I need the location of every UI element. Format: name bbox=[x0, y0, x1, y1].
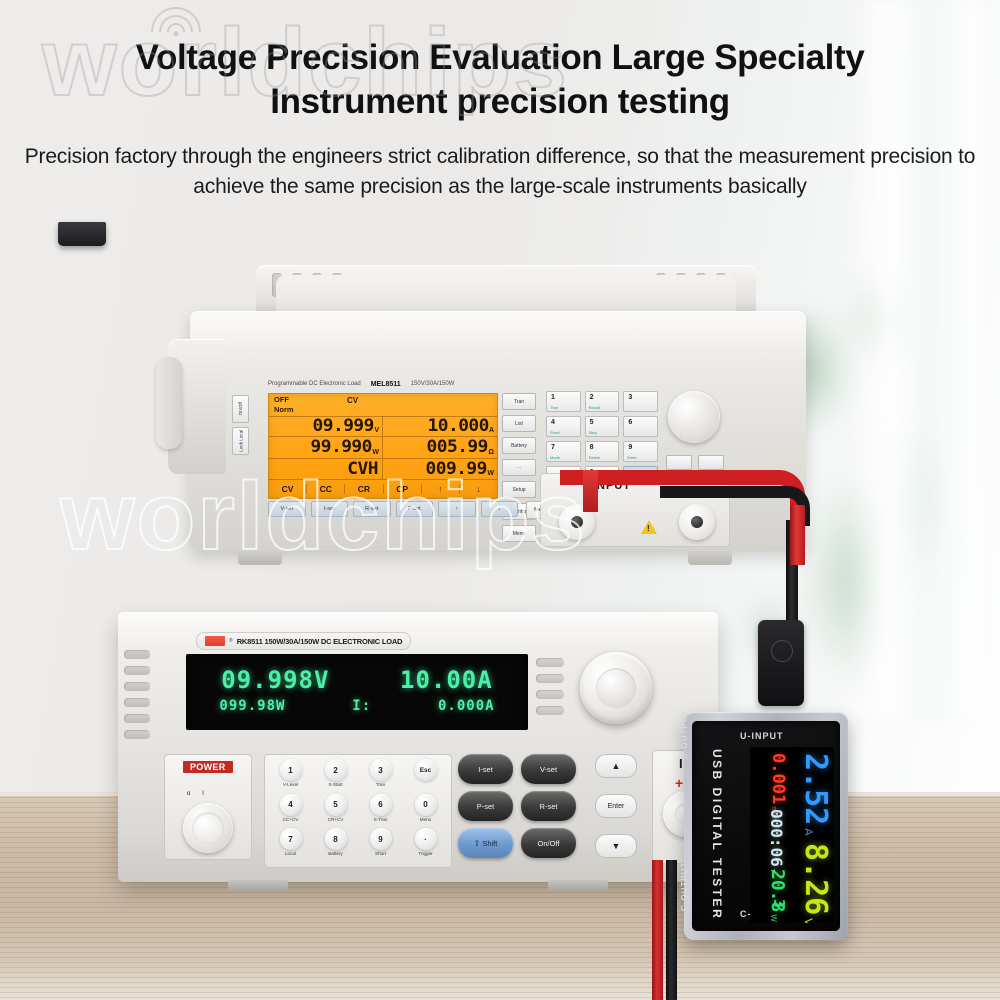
power-symbols: o l bbox=[187, 779, 231, 797]
red-lead-terminal-end bbox=[583, 470, 598, 512]
soft-key-4[interactable] bbox=[536, 706, 564, 715]
soft-key-2[interactable] bbox=[536, 674, 564, 683]
usb-tester-channel-value: 3 bbox=[771, 899, 786, 908]
top-down-button[interactable]: ↓ bbox=[481, 501, 519, 517]
soft-key-3[interactable] bbox=[536, 690, 564, 699]
top-vset-button[interactable]: V-set bbox=[268, 501, 306, 517]
power-on-symbol: l bbox=[202, 791, 203, 797]
lcd-status-row: OFF Norm CV bbox=[269, 394, 497, 417]
top-instrument-lcd: OFF Norm CV 09.999 V 10.000 A 99.990 W bbox=[268, 393, 498, 499]
top-rotary-knob[interactable] bbox=[668, 391, 720, 443]
registered-mark: ® bbox=[229, 638, 233, 644]
usb-a-connector bbox=[758, 620, 804, 706]
bottom-instrument-vents bbox=[124, 650, 150, 740]
usb-micro-connector bbox=[58, 222, 106, 246]
lcd-seg-cp: CP bbox=[384, 484, 422, 494]
bottom-instrument-foot-left bbox=[228, 880, 288, 890]
bottom-iset-button[interactable]: I-set bbox=[458, 754, 513, 784]
bottom-shift-button[interactable]: Shift bbox=[458, 828, 513, 858]
usb-tester-power-group: 20.8 W bbox=[768, 869, 786, 922]
top-utility-button-right[interactable] bbox=[698, 455, 724, 470]
usb-tester-capacity-value: 0.001 bbox=[769, 753, 786, 804]
bottom-rotary-knob[interactable] bbox=[580, 652, 652, 724]
lcd-cell-resistance: 005.99 Ω bbox=[383, 437, 497, 458]
lcd-cell-setpower: 009.99 W bbox=[383, 459, 497, 480]
lcd-cv-label: CV bbox=[347, 396, 358, 405]
lcd-seg-up: ↑ bbox=[422, 484, 460, 494]
bottom-numeric-keypad: 1V-Level 2S-Start 3Tran Esc 4CC+CV 5CR+C… bbox=[264, 754, 452, 868]
vfd-power: 099.98W bbox=[219, 698, 285, 714]
bottom-key-3[interactable]: 3Tran bbox=[358, 759, 403, 794]
warning-triangle-icon bbox=[641, 520, 657, 534]
lcd-unit-power: W bbox=[372, 449, 379, 456]
usb-tester-port-c-output: C-OUTPUT bbox=[680, 862, 689, 911]
bottom-key-4[interactable]: 4CC+CV bbox=[268, 794, 313, 829]
lcd-cell-power: 99.990 W bbox=[269, 437, 383, 458]
power-section: POWER o l bbox=[164, 754, 252, 860]
top-fn-tran[interactable]: Tran bbox=[502, 393, 536, 410]
red-lead-to-floor bbox=[652, 860, 663, 1000]
lcd-mode-off: OFF bbox=[274, 395, 294, 405]
usb-digital-tester: U-INPUT C-INPUT U-OUTPUT C-OUTPUT USB DI… bbox=[684, 712, 848, 940]
top-lock-local-button[interactable]: Lock Local bbox=[232, 427, 249, 455]
vfd-voltage: 09.998V bbox=[221, 666, 329, 694]
top-instrument-nameplate: Programmable DC Electronic Load MEL8511 … bbox=[268, 377, 530, 391]
arrow-up-button[interactable]: ▲ bbox=[595, 754, 637, 778]
lcd-unit-resistance: Ω bbox=[488, 449, 494, 456]
lcd-value-resistance: 005.99 bbox=[426, 437, 487, 457]
top-utility-button-left[interactable] bbox=[666, 455, 692, 470]
usb-tester-voltage-group: 8.26 V bbox=[800, 843, 830, 923]
top-iset-button[interactable]: I-set bbox=[311, 501, 349, 517]
bottom-pset-button[interactable]: P-set bbox=[458, 791, 513, 821]
top-pset-button[interactable]: P-set bbox=[396, 501, 434, 517]
enter-button[interactable]: Enter bbox=[595, 794, 637, 818]
top-set-button-row: V-set I-set R-set P-set ↑ ↓ bbox=[268, 501, 518, 517]
top-utility-buttons bbox=[666, 455, 726, 470]
usb-tester-voltage-value: 8.26 bbox=[800, 843, 830, 915]
bottom-rset-button[interactable]: R-set bbox=[521, 791, 576, 821]
top-key-1[interactable]: 1Tran bbox=[546, 391, 581, 412]
bottom-instrument-foot-right bbox=[548, 880, 608, 890]
top-fn-battery[interactable]: Battery bbox=[502, 437, 536, 454]
top-key-9[interactable]: 9Enter bbox=[623, 441, 658, 462]
top-fn-more[interactable]: ⋯ bbox=[502, 459, 536, 476]
top-instrument-rating: 150V/30A/150W bbox=[411, 381, 455, 387]
top-key-3[interactable]: 3 bbox=[623, 391, 658, 412]
lcd-unit-current: A bbox=[489, 427, 494, 434]
top-key-5[interactable]: 5Step bbox=[585, 416, 620, 437]
lcd-mode-indicator: OFF Norm bbox=[274, 395, 294, 414]
top-fn-list[interactable]: List bbox=[502, 415, 536, 432]
usb-tester-channel-group: 3 bbox=[771, 899, 786, 908]
usb-tester-screen-rotated: 2.52 A 8.26 V 0.001 mAh 000:06 ᴛ bbox=[750, 747, 834, 923]
top-onoff-button[interactable]: On/Off bbox=[232, 395, 249, 423]
vfd-current-set-label: I: bbox=[352, 698, 371, 714]
lcd-cell-voltage: 09.999 V bbox=[269, 416, 383, 437]
bottom-arrow-keys: ▲ Enter ▼ bbox=[590, 754, 642, 858]
bottom-soft-keys bbox=[536, 658, 564, 715]
power-button[interactable] bbox=[183, 803, 233, 853]
lcd-unit-setpower: W bbox=[487, 470, 494, 477]
brand-logo-icon bbox=[205, 636, 225, 646]
lcd-unit-voltage: V bbox=[374, 427, 379, 434]
vfd-current-set: 0.000A bbox=[438, 698, 495, 714]
top-instrument: Programmable DC Electronic Load MEL8511 … bbox=[168, 265, 840, 610]
top-key-8[interactable]: 8Delete bbox=[585, 441, 620, 462]
lcd-seg-cv: CV bbox=[269, 484, 307, 494]
page-subtitle: Precision factory through the engineers … bbox=[0, 124, 1000, 202]
black-lead-to-floor bbox=[666, 860, 677, 1000]
bottom-function-keys: I-set V-set P-set R-set Shift On/Off bbox=[458, 754, 576, 858]
bottom-key-dot[interactable]: ·Trigger bbox=[403, 828, 448, 863]
vfd-row-primary: 09.998V 10.00A bbox=[186, 666, 528, 694]
usb-tester-power-unit: W bbox=[769, 914, 778, 922]
top-key-4[interactable]: 4Short bbox=[546, 416, 581, 437]
vfd-current: 10.00A bbox=[400, 666, 493, 694]
top-instrument-caption: Programmable DC Electronic Load bbox=[268, 381, 361, 387]
top-fn-menu[interactable]: Menu bbox=[502, 525, 536, 542]
arrow-down-button[interactable]: ▼ bbox=[595, 834, 637, 858]
bottom-instrument-label: RK8511 150W/30A/150W DC ELECTRONIC LOAD bbox=[237, 637, 403, 646]
bottom-instrument-nameplate: ® RK8511 150W/30A/150W DC ELECTRONIC LOA… bbox=[196, 632, 411, 650]
lcd-seg-cr: CR bbox=[345, 484, 383, 494]
top-onoff-label: On/Off bbox=[238, 402, 243, 415]
usb-tester-port-u-input: U-INPUT bbox=[740, 731, 784, 741]
top-fn-setup[interactable]: Setup bbox=[502, 481, 536, 498]
usb-tester-faceplate: U-INPUT C-INPUT U-OUTPUT C-OUTPUT USB DI… bbox=[692, 721, 840, 931]
power-label: POWER bbox=[183, 761, 233, 773]
usb-tester-port-u-output: U-OUTPUT bbox=[680, 710, 689, 759]
bottom-key-6[interactable]: 6S-Tran bbox=[358, 794, 403, 829]
lcd-seg-down: ↓ bbox=[460, 484, 497, 494]
product-banner: Voltage Precision Evaluation Large Speci… bbox=[0, 0, 1000, 1000]
usb-tester-current-value: 2.52 bbox=[800, 753, 830, 825]
usb-tester-time-group: 000:06 ᴛ bbox=[768, 809, 784, 872]
lcd-mode-bar: CV CC CR CP ↑ ↓ bbox=[269, 480, 497, 498]
lcd-value-current: 10.000 bbox=[427, 416, 488, 436]
lcd-readout-grid: 09.999 V 10.000 A 99.990 W 005.99 Ω CVH bbox=[269, 416, 497, 480]
usb-tester-brand-text: USB DIGITAL TESTER bbox=[710, 749, 724, 920]
bottom-key-2[interactable]: 2S-Start bbox=[313, 759, 358, 794]
usb-tester-current-group: 2.52 A bbox=[800, 753, 830, 836]
bottom-key-5[interactable]: 5CR+CV bbox=[313, 794, 358, 829]
top-key-7[interactable]: 7Mode bbox=[546, 441, 581, 462]
lcd-value-power: 99.990 bbox=[311, 437, 372, 457]
bottom-vset-button[interactable]: V-set bbox=[521, 754, 576, 784]
bottom-key-7[interactable]: 7Local bbox=[268, 828, 313, 863]
lcd-mode-norm: Norm bbox=[274, 405, 294, 415]
bottom-instrument: ® RK8511 150W/30A/150W DC ELECTRONIC LOA… bbox=[118, 612, 718, 902]
lcd-value-mode: CVH bbox=[347, 459, 378, 479]
usb-tester-current-unit: A bbox=[802, 828, 814, 835]
top-instrument-model: MEL8511 bbox=[371, 381, 401, 388]
usb-tester-screen: 2.52 A 8.26 V 0.001 mAh 000:06 ᴛ bbox=[750, 747, 834, 923]
title-line-1: Voltage Precision Evaluation Large Speci… bbox=[0, 36, 1000, 80]
top-instrument-handle[interactable] bbox=[156, 357, 182, 449]
top-lock-local-label: Lock Local bbox=[238, 430, 243, 452]
bottom-key-8[interactable]: 8Battery bbox=[313, 828, 358, 863]
lcd-value-setpower: 009.99 bbox=[426, 459, 487, 479]
red-lead-drop bbox=[790, 505, 805, 565]
top-rset-button[interactable]: R-set bbox=[353, 501, 391, 517]
wifi-icon bbox=[148, 2, 204, 36]
top-key-6[interactable]: 6 bbox=[623, 416, 658, 437]
lcd-cell-mode: CVH bbox=[269, 459, 383, 480]
bottom-key-esc[interactable]: Esc bbox=[403, 759, 448, 794]
positive-terminal-label: + bbox=[675, 775, 683, 791]
bottom-key-1[interactable]: 1V-Level bbox=[268, 759, 313, 794]
bottom-key-0[interactable]: 0Menu bbox=[403, 794, 448, 829]
lcd-cell-current: 10.000 A bbox=[383, 416, 497, 437]
lcd-value-voltage: 09.999 bbox=[312, 416, 373, 436]
bottom-instrument-vfd-display: 09.998V 10.00A 099.98W I: 0.000A bbox=[186, 654, 528, 730]
title-line-2: Instrument precision testing bbox=[0, 80, 1000, 124]
lcd-seg-cc: CC bbox=[307, 484, 345, 494]
soft-key-1[interactable] bbox=[536, 658, 564, 667]
top-up-button[interactable]: ↑ bbox=[438, 501, 476, 517]
bottom-key-9[interactable]: 9Short bbox=[358, 828, 403, 863]
top-key-2[interactable]: 2Recall bbox=[585, 391, 620, 412]
top-function-column: Tran List Battery ⋯ Setup Config Menu bbox=[502, 393, 536, 542]
usb-tester-time-value: 000:06 bbox=[768, 809, 784, 867]
bottom-onoff-button[interactable]: On/Off bbox=[521, 828, 576, 858]
vfd-row-secondary: 099.98W I: 0.000A bbox=[186, 698, 528, 714]
power-off-symbol: o bbox=[187, 791, 190, 797]
usb-tester-voltage-unit: V bbox=[802, 918, 814, 923]
